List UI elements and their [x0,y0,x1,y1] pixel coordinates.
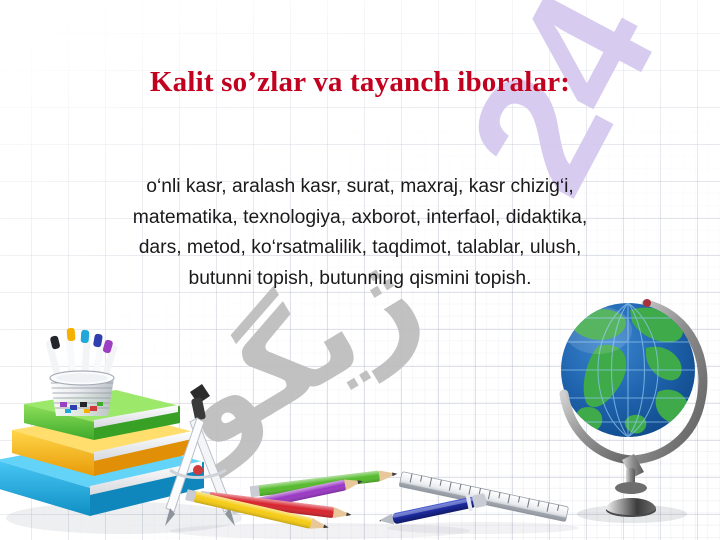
pencil-cup-icon [45,328,117,416]
ruler-and-pen-illustration [378,470,588,540]
slide-body-text: o‘nli kasr, aralash kasr, surat, maxraj,… [52,172,668,294]
presentation-slide: 24 ژیگو Kalit so’zlar va tayanch iborala… [0,0,720,540]
slide-title: Kalit so’zlar va tayanch iboralar: [0,64,720,100]
ruler-pen-icon [378,470,588,540]
